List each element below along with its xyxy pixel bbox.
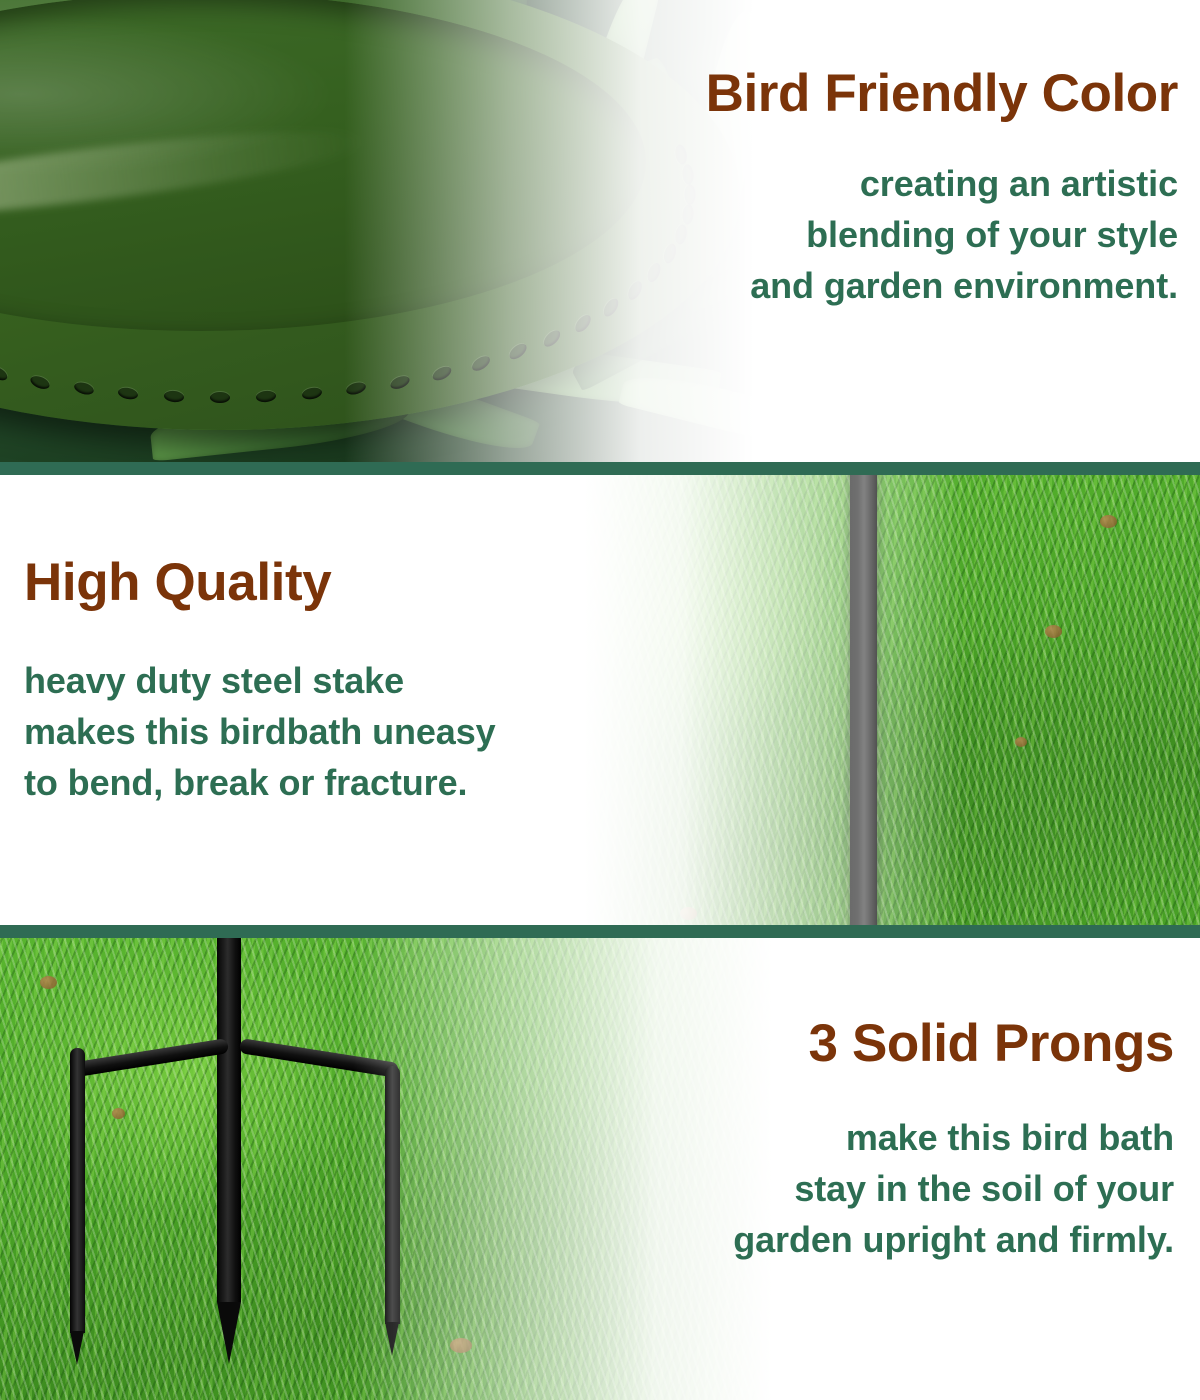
feature-panel-bird-friendly-color: Bird Friendly Color creating an artistic… [0, 0, 1200, 462]
body-line: and garden environment. [706, 260, 1178, 311]
panel-1-body: creating an artistic blending of your st… [706, 158, 1178, 311]
panel-2-body: heavy duty steel stake makes this birdba… [24, 655, 496, 808]
body-line: creating an artistic [706, 158, 1178, 209]
body-line: to bend, break or fracture. [24, 757, 496, 808]
body-line: heavy duty steel stake [24, 655, 496, 706]
body-line: stay in the soil of your [733, 1163, 1174, 1214]
panel-1-text-block: Bird Friendly Color creating an artistic… [706, 66, 1178, 311]
body-line: garden upright and firmly. [733, 1214, 1174, 1265]
panel-2-text-block: High Quality heavy duty steel stake make… [24, 555, 496, 808]
panel-3-body: make this bird bath stay in the soil of … [733, 1112, 1174, 1265]
panel-3-text-block: 3 Solid Prongs make this bird bath stay … [733, 1016, 1174, 1265]
body-line: blending of your style [706, 209, 1178, 260]
photo-fade-mask [0, 938, 840, 1400]
photo-fade-mask [500, 475, 1200, 928]
steel-pole-in-grass-photo [500, 475, 1200, 928]
infographic-board: Bird Friendly Color creating an artistic… [0, 0, 1200, 1400]
feature-panel-high-quality: High Quality heavy duty steel stake make… [0, 475, 1200, 928]
panel-divider [0, 925, 1200, 938]
bird-bath-bowl-photo [0, 0, 820, 462]
feature-panel-three-solid-prongs: 3 Solid Prongs make this bird bath stay … [0, 938, 1200, 1400]
panel-divider [0, 462, 1200, 475]
panel-3-headline: 3 Solid Prongs [733, 1016, 1174, 1072]
body-line: makes this birdbath uneasy [24, 706, 496, 757]
photo-fade-mask [0, 0, 820, 462]
panel-1-headline: Bird Friendly Color [706, 66, 1178, 122]
body-line: make this bird bath [733, 1112, 1174, 1163]
panel-2-headline: High Quality [24, 555, 496, 611]
three-prong-stake-photo [0, 938, 840, 1400]
